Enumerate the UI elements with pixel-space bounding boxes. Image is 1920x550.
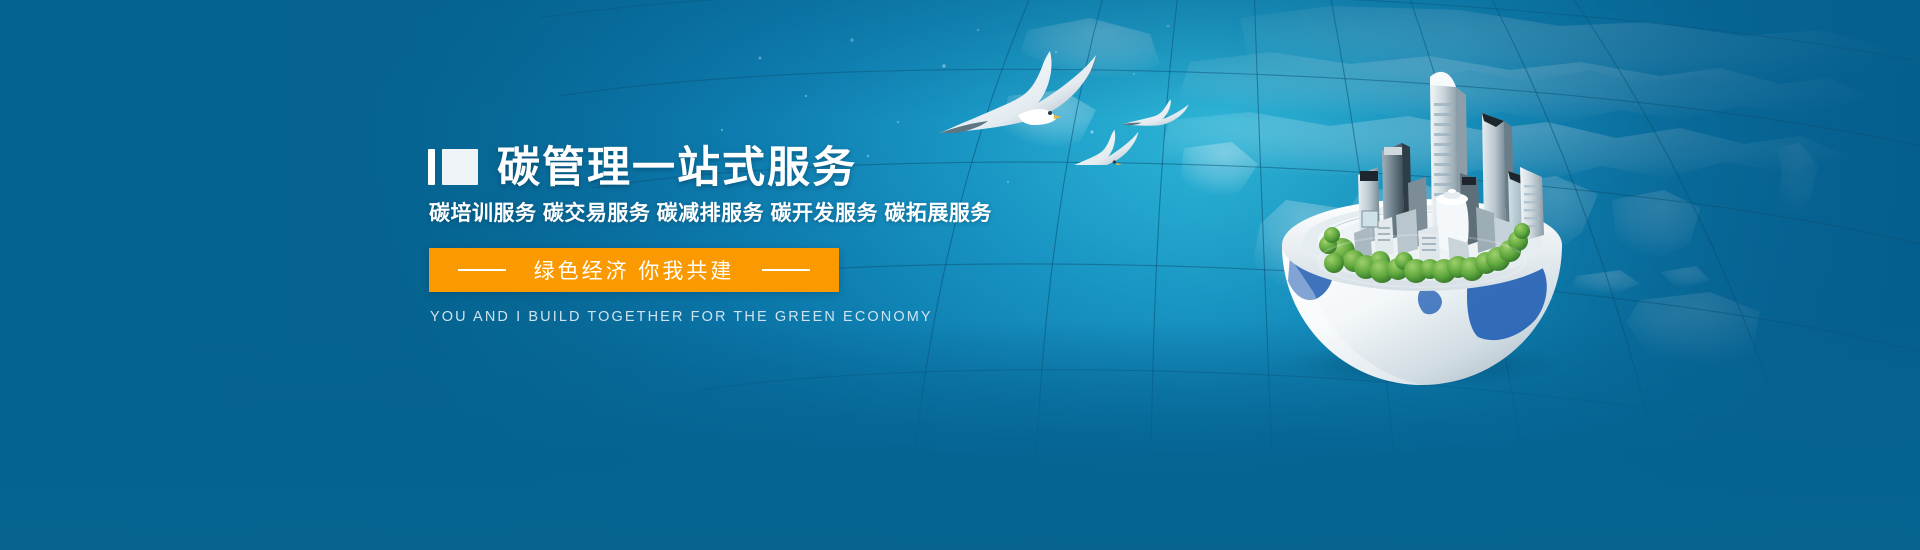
slogan-ribbon: 绿色经济 你我共建 (429, 248, 839, 292)
ribbon-dash-right-icon (762, 269, 810, 271)
page-title: 碳管理一站式服务 (497, 145, 857, 191)
filled-square-icon (442, 149, 478, 185)
service-list: 碳培训服务 碳交易服务 碳减排服务 碳开发服务 碳拓展服务 (429, 200, 1048, 228)
seagull-small-icon (1122, 92, 1189, 135)
banner-text-block: 碳管理一站式服务 碳培训服务 碳交易服务 碳减排服务 碳开发服务 碳拓展服务 绿… (428, 142, 1048, 325)
ribbon-dash-left-icon (458, 269, 506, 271)
vertical-bar-icon (428, 149, 435, 185)
english-tagline: YOU AND I BUILD TOGETHER FOR THE GREEN E… (430, 309, 1048, 325)
ribbon-slogan: 绿色经济 你我共建 (534, 255, 735, 285)
seagull-medium-icon (1057, 130, 1138, 165)
seagull-large-icon (940, 51, 1096, 133)
background-bottom-shade (0, 320, 1920, 550)
earth-city-artwork (1270, 55, 1570, 385)
title-row: 碳管理一站式服务 (428, 142, 1048, 194)
bar-and-square-mark-icon (428, 149, 478, 185)
hero-banner: 碳管理一站式服务 碳培训服务 碳交易服务 碳减排服务 碳开发服务 碳拓展服务 绿… (0, 0, 1920, 550)
